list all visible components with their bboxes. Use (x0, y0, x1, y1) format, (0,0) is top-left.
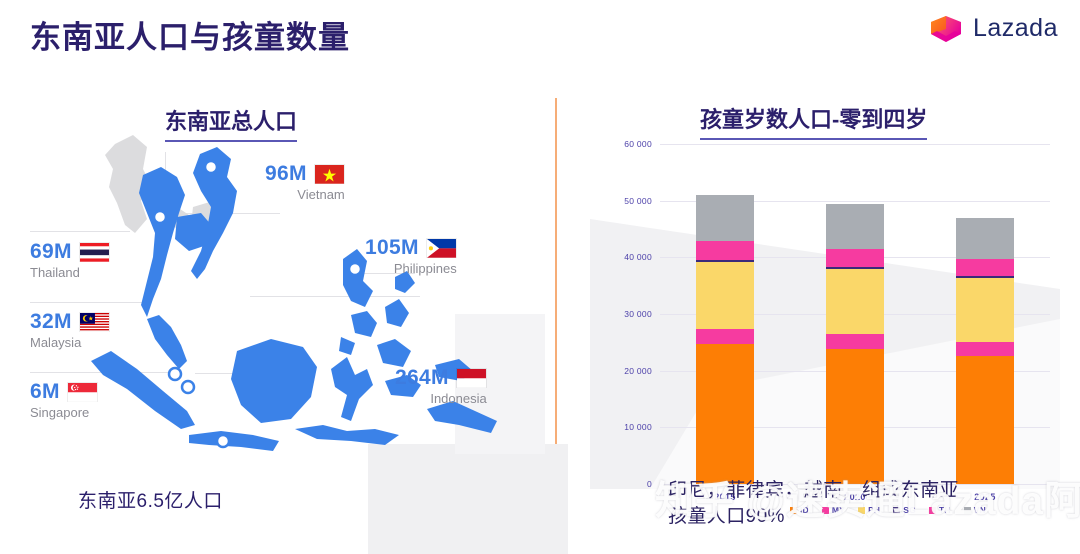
bar-segment-ph (696, 262, 754, 329)
country-value: 105M (365, 236, 419, 260)
chart-bar (696, 195, 754, 484)
bar-segment-my (696, 329, 754, 344)
bar-segment-vn (826, 204, 884, 249)
y-axis-tick-label: 60 000 (624, 139, 652, 149)
bar-segment-my (826, 334, 884, 348)
country-callout-indonesia: 264M Indonesia (395, 366, 487, 406)
decorative-shape (368, 444, 568, 554)
country-name: Thailand (30, 265, 110, 280)
bar-segment-ph (956, 278, 1014, 342)
malaysia-flag-icon (79, 312, 110, 332)
country-value: 96M (265, 162, 307, 186)
legend-item-vn[interactable]: VN (964, 505, 986, 515)
country-name: Malaysia (30, 335, 110, 350)
lazada-wordmark: Lazada (973, 14, 1058, 43)
left-panel: 东南亚总人口 (0, 74, 540, 553)
country-callout-vietnam: 96M Vietnam (265, 162, 345, 202)
country-callout-philippines: 105M Philippines (365, 236, 457, 276)
country-name: Singapore (30, 405, 98, 420)
country-callout-malaysia: 32M Malaysia (30, 310, 110, 350)
bar-segment-th (956, 259, 1014, 276)
bar-segment-th (826, 249, 884, 267)
y-axis-tick-label: 10 000 (624, 422, 652, 432)
country-name: Vietnam (265, 187, 345, 202)
slide-header: 东南亚人口与孩童数量 (0, 0, 1080, 74)
country-value: 32M (30, 310, 72, 334)
singapore-flag-icon (67, 382, 98, 402)
chart-plot-area: 010 00020 00030 00040 00050 00060 000 (660, 144, 1050, 484)
legend-label: VN (974, 505, 986, 515)
country-value: 264M (395, 366, 449, 390)
right-panel-caption: 印尼，菲律宾，越南，组成东南亚 孩童人口90% (668, 478, 959, 529)
country-name: Indonesia (395, 391, 487, 406)
bar-segment-id (956, 356, 1014, 484)
x-axis-tick-label: 2025 (956, 492, 1014, 502)
page-title: 东南亚人口与孩童数量 (30, 12, 350, 57)
thailand-flag-icon (79, 242, 110, 262)
bar-segment-vn (696, 195, 754, 241)
y-axis-tick-label: 50 000 (624, 196, 652, 206)
chart-bar (956, 218, 1014, 484)
y-axis-tick-label: 20 000 (624, 366, 652, 376)
vietnam-flag-icon (314, 164, 345, 184)
left-panel-caption: 东南亚6.5亿人口 (78, 486, 223, 513)
bar-segment-id (826, 349, 884, 484)
chart-bar (826, 204, 884, 484)
gridline (660, 144, 1050, 145)
caption-line-1: 印尼，菲律宾，越南，组成东南亚 (668, 478, 959, 504)
country-name: Philippines (365, 261, 457, 276)
right-panel: 孩童岁数人口-零到四岁 010 00020 00030 00040 00050 … (540, 74, 1080, 553)
bar-segment-vn (956, 218, 1014, 260)
lazada-heart-box-icon (928, 12, 964, 45)
children-population-chart: 010 00020 00030 00040 00050 00060 000 20… (585, 134, 1065, 494)
country-value: 69M (30, 240, 72, 264)
indonesia-flag-icon (456, 368, 487, 388)
y-axis-tick-label: 40 000 (624, 252, 652, 262)
bar-segment-ph (826, 269, 884, 334)
legend-swatch (964, 507, 971, 514)
bar-segment-my (956, 342, 1014, 356)
y-axis-tick-label: 0 (647, 479, 652, 489)
caption-line-2: 孩童人口90% (668, 504, 959, 530)
country-callout-singapore: 6M Singapore (30, 380, 98, 420)
country-value: 6M (30, 380, 60, 404)
philippines-flag-icon (426, 238, 457, 258)
lazada-logo: Lazada (928, 12, 1058, 45)
y-axis-tick-label: 30 000 (624, 309, 652, 319)
slide-root: 东南亚人口与孩童数量 (0, 0, 1080, 553)
country-callout-thailand: 69M Thailand (30, 240, 110, 280)
bar-segment-th (696, 241, 754, 260)
bar-segment-id (696, 344, 754, 484)
